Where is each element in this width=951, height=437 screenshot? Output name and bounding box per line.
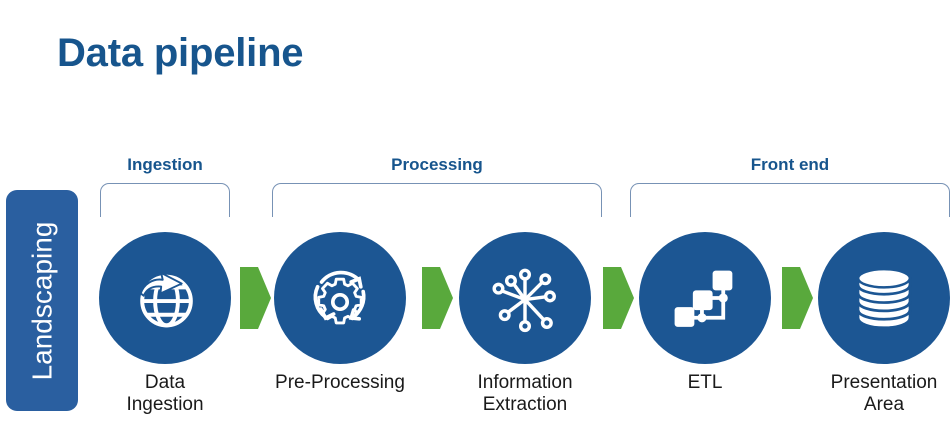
group-front-end: Front end bbox=[630, 155, 950, 217]
stage-presentation-area[interactable]: Presentation Area bbox=[818, 232, 950, 416]
group-bracket-front-end bbox=[630, 183, 950, 217]
stage-caption: Data Ingestion bbox=[99, 372, 231, 416]
stage-information-extraction[interactable]: Information Extraction bbox=[459, 232, 591, 416]
group-label-front-end: Front end bbox=[630, 155, 950, 175]
landscaping-sidebar: Landscaping bbox=[6, 190, 78, 411]
caption-line-1: Presentation bbox=[818, 372, 950, 394]
network-hub-icon bbox=[486, 259, 564, 337]
stage-caption: Information Extraction bbox=[459, 372, 591, 416]
stage-icon-circle bbox=[99, 232, 231, 364]
caption-line-2: Ingestion bbox=[99, 394, 231, 416]
page-title: Data pipeline bbox=[57, 33, 303, 73]
database-stack-icon bbox=[846, 260, 922, 336]
group-bracket-processing bbox=[272, 183, 602, 217]
stage-icon-circle bbox=[639, 232, 771, 364]
stage-icon-circle bbox=[459, 232, 591, 364]
arrow-4 bbox=[780, 265, 814, 331]
group-label-ingestion: Ingestion bbox=[100, 155, 230, 175]
caption-line-2: Extraction bbox=[459, 394, 591, 416]
group-label-processing: Processing bbox=[272, 155, 602, 175]
caption-line-2: Area bbox=[818, 394, 950, 416]
stage-caption: ETL bbox=[639, 372, 771, 394]
gear-refresh-icon bbox=[300, 258, 380, 338]
stage-pre-processing[interactable]: Pre-Processing bbox=[274, 232, 406, 394]
group-ingestion: Ingestion bbox=[100, 155, 230, 217]
arrow-1 bbox=[238, 265, 272, 331]
caption-line-1: Data bbox=[99, 372, 231, 394]
globe-arrow-icon bbox=[127, 260, 203, 336]
stage-icon-circle bbox=[274, 232, 406, 364]
caption-line-1: Information bbox=[459, 372, 591, 394]
slide-canvas: Data pipeline Landscaping Ingestion Proc… bbox=[0, 0, 951, 437]
caption-line-1: ETL bbox=[639, 372, 771, 394]
arrow-3 bbox=[601, 265, 635, 331]
stage-caption: Pre-Processing bbox=[274, 372, 406, 394]
stage-icon-circle bbox=[818, 232, 950, 364]
arrow-2 bbox=[420, 265, 454, 331]
caption-line-1: Pre-Processing bbox=[274, 372, 406, 394]
stage-caption: Presentation Area bbox=[818, 372, 950, 416]
group-processing: Processing bbox=[272, 155, 602, 217]
stage-data-ingestion[interactable]: Data Ingestion bbox=[99, 232, 231, 416]
flow-nodes-icon bbox=[667, 260, 743, 336]
stage-etl[interactable]: ETL bbox=[639, 232, 771, 394]
group-bracket-ingestion bbox=[100, 183, 230, 217]
landscaping-label: Landscaping bbox=[28, 221, 56, 380]
